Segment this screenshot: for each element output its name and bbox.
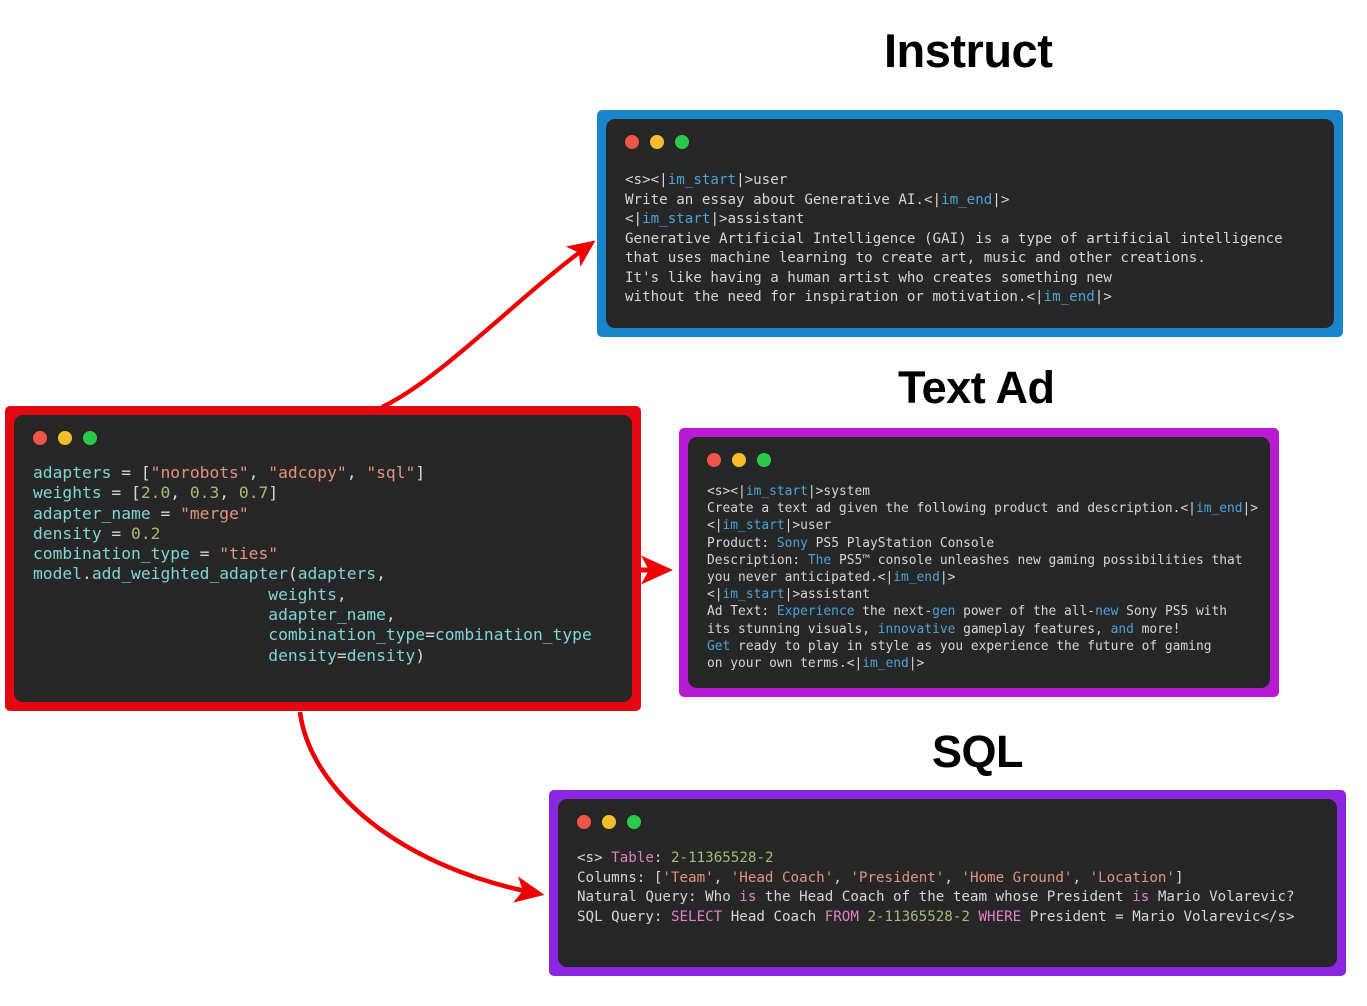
code-token: Generative Artificial Intelligence (GAI)… — [625, 231, 1283, 247]
code-token: 'President' — [850, 870, 944, 886]
code-token: adapters — [298, 564, 376, 583]
code-line: combination_type=combination_type — [33, 625, 613, 645]
code-token: = [ — [111, 463, 150, 482]
code-token: Experience — [777, 604, 855, 619]
code-token: It's like having a human artist who crea… — [625, 270, 1112, 286]
code-line: Write an essay about Generative AI.<|im_… — [625, 191, 1315, 211]
code-token: , — [219, 483, 239, 502]
code-line: <|im_start|>assistant — [625, 210, 1315, 230]
maximize-dot-icon[interactable] — [627, 815, 641, 829]
code-token: Table — [611, 850, 654, 866]
code-token: |>assistant — [710, 211, 804, 227]
merge-code-panel: adapters = ["norobots", "adcopy", "sql"]… — [5, 406, 641, 711]
code-token: Create a text ad given the following pro… — [707, 501, 1196, 516]
code-line: <s> Table: 2-11365528-2 — [577, 849, 1318, 869]
code-line: Natural Query: Who is the Head Coach of … — [577, 888, 1318, 908]
code-token: |> — [909, 656, 925, 671]
code-token: "sql" — [366, 463, 415, 482]
code-token: "adcopy" — [268, 463, 346, 482]
code-token: Mario Volarevic? — [1149, 889, 1294, 905]
code-token: 'Head Coach' — [731, 870, 834, 886]
code-token: Product: — [707, 536, 777, 551]
code-token: 2-11365528-2 — [867, 909, 970, 925]
code-line: <|im_start|>assistant — [707, 586, 1251, 603]
code-token: . — [82, 564, 92, 583]
heading-instruct: Instruct — [884, 27, 1052, 74]
code-token: Columns: [ — [577, 870, 662, 886]
code-token: , — [1072, 870, 1089, 886]
code-token: |>assistant — [785, 587, 870, 602]
code-token: innovative — [878, 622, 956, 637]
maximize-dot-icon[interactable] — [83, 431, 97, 445]
code-token: adapters — [33, 463, 111, 482]
code-token: ] — [1175, 870, 1184, 886]
code-line: you never anticipated.<|im_end|> — [707, 569, 1251, 586]
code-token: im_end — [862, 656, 909, 671]
code-line: Generative Artificial Intelligence (GAI)… — [625, 230, 1315, 250]
code-token — [33, 585, 268, 604]
code-token: "merge" — [180, 504, 249, 523]
code-token: The — [808, 553, 831, 568]
code-token: , — [833, 870, 850, 886]
code-token: = — [337, 646, 347, 665]
code-line: Product: Sony PS5 PlayStation Console — [707, 535, 1251, 552]
code-token: 'Location' — [1090, 870, 1175, 886]
terminal-window-code: adapters = ["norobots", "adcopy", "sql"]… — [14, 415, 632, 702]
code-token: Get — [707, 639, 730, 654]
code-token: ready to play in style as you experience… — [730, 639, 1211, 654]
code-token: "norobots" — [151, 463, 249, 482]
minimize-dot-icon[interactable] — [602, 815, 616, 829]
code-token: ) — [415, 646, 425, 665]
code-token: FROM — [825, 909, 859, 925]
code-token: im_end — [1196, 501, 1243, 516]
window-controls — [625, 133, 1315, 151]
code-token: "ties" — [219, 544, 278, 563]
code-token: , — [347, 463, 367, 482]
code-token: |> — [992, 192, 1009, 208]
terminal-window-text-ad: <s><|im_start|>systemCreate a text ad gi… — [688, 437, 1270, 688]
maximize-dot-icon[interactable] — [757, 453, 771, 467]
code-token: 'Team' — [662, 870, 713, 886]
code-token: PS5™ console unleashes new gaming possib… — [831, 553, 1242, 568]
code-token: you never anticipated.<| — [707, 570, 893, 585]
instruct-code-text: <s><|im_start|>userWrite an essay about … — [625, 171, 1315, 308]
code-token: 2-11365528-2 — [671, 850, 774, 866]
close-dot-icon[interactable] — [577, 815, 591, 829]
code-token: gen — [932, 604, 955, 619]
sql-code-text: <s> Table: 2-11365528-2Columns: ['Team',… — [577, 849, 1318, 927]
minimize-dot-icon[interactable] — [58, 431, 72, 445]
code-token: 0.3 — [190, 483, 219, 502]
heading-text-ad: Text Ad — [898, 365, 1055, 410]
code-token: SELECT — [671, 909, 722, 925]
code-token: 'Home Ground' — [961, 870, 1072, 886]
code-token — [33, 605, 268, 624]
code-token: <| — [707, 518, 723, 533]
code-token: combination_type — [435, 625, 592, 644]
code-token: Sony PS5 with — [1118, 604, 1227, 619]
code-line: Get ready to play in style as you experi… — [707, 638, 1251, 655]
code-token: SQL Query: — [577, 909, 671, 925]
code-token: = — [190, 544, 219, 563]
code-token: President = Mario Volarevic</s> — [1021, 909, 1294, 925]
code-token: , — [386, 605, 396, 624]
code-token: weights — [268, 585, 337, 604]
code-line: its stunning visuals, innovative gamepla… — [707, 621, 1251, 638]
code-line: without the need for inspiration or moti… — [625, 288, 1315, 308]
code-line: Create a text ad given the following pro… — [707, 500, 1251, 517]
code-token: is — [739, 889, 756, 905]
code-token: im_start — [668, 172, 736, 188]
code-token: = — [425, 625, 435, 644]
code-line: model.add_weighted_adapter(adapters, — [33, 564, 613, 584]
code-token: <s><| — [625, 172, 668, 188]
code-token: |>system — [808, 484, 870, 499]
code-token: , — [714, 870, 731, 886]
heading-sql: SQL — [932, 729, 1023, 774]
code-token: im_start — [746, 484, 808, 499]
code-line: Columns: ['Team', 'Head Coach', 'Preside… — [577, 869, 1318, 889]
code-token: power of the all- — [955, 604, 1095, 619]
code-token: 0.2 — [131, 524, 160, 543]
code-token: without the need for inspiration or moti… — [625, 289, 1044, 305]
code-token: |> — [1243, 501, 1259, 516]
instruct-sample-panel: <s><|im_start|>userWrite an essay about … — [597, 110, 1343, 337]
code-token: density — [347, 646, 416, 665]
code-token: adapter_name — [33, 504, 151, 523]
code-token: on your own terms.<| — [707, 656, 862, 671]
code-line: density=density) — [33, 646, 613, 666]
code-line: that uses machine learning to create art… — [625, 249, 1315, 269]
code-token: = — [151, 504, 180, 523]
code-token: the next- — [854, 604, 932, 619]
code-token: im_end — [941, 192, 992, 208]
code-line: Ad Text: Experience the next-gen power o… — [707, 603, 1251, 620]
text-ad-sample-panel: <s><|im_start|>systemCreate a text ad gi… — [679, 428, 1279, 697]
code-token: gameplay features, — [955, 622, 1110, 637]
merge-code-text: adapters = ["norobots", "adcopy", "sql"]… — [33, 463, 613, 666]
code-line: density = 0.2 — [33, 524, 613, 544]
code-token: its stunning visuals, — [707, 622, 878, 637]
code-line: <s><|im_start|>system — [707, 483, 1251, 500]
arrow-code-to-sql — [300, 712, 540, 894]
code-token — [33, 625, 268, 644]
code-token: ( — [288, 564, 298, 583]
minimize-dot-icon[interactable] — [650, 135, 664, 149]
code-token: Write an essay about Generative AI.<| — [625, 192, 941, 208]
code-token: |> — [1095, 289, 1112, 305]
code-token: new — [1095, 604, 1118, 619]
code-token: , — [944, 870, 961, 886]
code-token: more! — [1134, 622, 1181, 637]
code-token: |> — [940, 570, 956, 585]
code-token: 2.0 — [141, 483, 170, 502]
code-line: adapter_name, — [33, 605, 613, 625]
code-token: ] — [268, 483, 278, 502]
code-line: combination_type = "ties" — [33, 544, 613, 564]
terminal-window-instruct: <s><|im_start|>userWrite an essay about … — [606, 119, 1334, 328]
code-line: on your own terms.<|im_end|> — [707, 655, 1251, 672]
close-dot-icon[interactable] — [33, 431, 47, 445]
arrow-code-to-instruct — [382, 243, 592, 407]
code-token: = [ — [102, 483, 141, 502]
window-controls — [577, 813, 1318, 831]
code-token: : — [654, 850, 671, 866]
code-token: Sony — [777, 536, 808, 551]
code-token: Head Coach — [722, 909, 825, 925]
code-token: im_start — [642, 211, 710, 227]
code-token: model — [33, 564, 82, 583]
code-token: Ad Text: — [707, 604, 777, 619]
code-token: = — [102, 524, 131, 543]
window-controls — [33, 429, 613, 447]
close-dot-icon[interactable] — [707, 453, 721, 467]
code-token: <s> — [577, 850, 611, 866]
code-token: , — [170, 483, 190, 502]
code-token: the Head Coach of the team whose Preside… — [756, 889, 1132, 905]
code-token: adapter_name — [268, 605, 386, 624]
code-line: Description: The PS5™ console unleashes … — [707, 552, 1251, 569]
code-token: <| — [707, 587, 723, 602]
code-token: , — [376, 564, 386, 583]
code-token: WHERE — [978, 909, 1021, 925]
code-token: combination_type — [33, 544, 190, 563]
code-token: ] — [415, 463, 425, 482]
code-token: is — [1132, 889, 1149, 905]
code-token: |>user — [736, 172, 787, 188]
maximize-dot-icon[interactable] — [675, 135, 689, 149]
close-dot-icon[interactable] — [625, 135, 639, 149]
code-token: <s><| — [707, 484, 746, 499]
code-line: SQL Query: SELECT Head Coach FROM 2-1136… — [577, 908, 1318, 928]
code-token: Description: — [707, 553, 808, 568]
code-token: Natural Query: Who — [577, 889, 739, 905]
code-token: density — [268, 646, 337, 665]
code-token: , — [337, 585, 347, 604]
code-token: weights — [33, 483, 102, 502]
code-token: density — [33, 524, 102, 543]
sql-sample-panel: <s> Table: 2-11365528-2Columns: ['Team',… — [549, 790, 1346, 976]
code-token: PS5 PlayStation Console — [808, 536, 994, 551]
code-token — [33, 646, 268, 665]
code-token: and — [1111, 622, 1134, 637]
code-token: that uses machine learning to create art… — [625, 250, 1206, 266]
code-token: im_end — [1044, 289, 1095, 305]
code-token: add_weighted_adapter — [92, 564, 288, 583]
code-line: <|im_start|>user — [707, 517, 1251, 534]
code-token: im_end — [893, 570, 940, 585]
code-line: It's like having a human artist who crea… — [625, 269, 1315, 289]
minimize-dot-icon[interactable] — [732, 453, 746, 467]
code-token: im_start — [723, 518, 785, 533]
code-token: <| — [625, 211, 642, 227]
text-ad-code-text: <s><|im_start|>systemCreate a text ad gi… — [707, 483, 1251, 672]
code-token: im_start — [723, 587, 785, 602]
code-line: weights = [2.0, 0.3, 0.7] — [33, 483, 613, 503]
window-controls — [707, 451, 1251, 469]
code-line: <s><|im_start|>user — [625, 171, 1315, 191]
code-line: adapters = ["norobots", "adcopy", "sql"] — [33, 463, 613, 483]
code-token: |>user — [785, 518, 832, 533]
diagram-canvas: Instruct Text Ad SQL <s><|im_start|>user… — [0, 0, 1367, 1006]
code-line: adapter_name = "merge" — [33, 504, 613, 524]
code-token: 0.7 — [239, 483, 268, 502]
code-line: weights, — [33, 585, 613, 605]
code-token: combination_type — [268, 625, 425, 644]
code-token: , — [249, 463, 269, 482]
terminal-window-sql: <s> Table: 2-11365528-2Columns: ['Team',… — [558, 799, 1337, 967]
